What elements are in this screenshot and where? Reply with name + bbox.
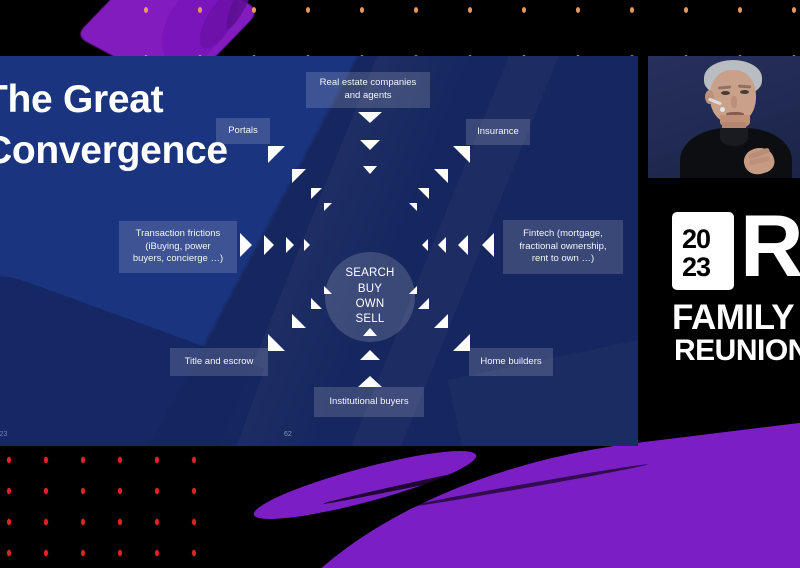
- speaker-eye-left: [721, 91, 730, 95]
- arrow-up-left-icon: [409, 286, 417, 294]
- node-transaction-frictions: Transaction frictions (iBuying, power bu…: [119, 221, 237, 273]
- screenshot-stage: The Great Convergence SEARCH BUY OWN SEL…: [0, 0, 800, 568]
- arrow-right-icon: [304, 239, 310, 251]
- arrow-up-right-icon: [292, 314, 306, 328]
- arrow-up-left-icon: [453, 334, 470, 351]
- arrow-left-icon: [458, 235, 468, 255]
- slide-footer-note: h 2023: [0, 431, 7, 438]
- arrow-up-left-icon: [418, 298, 429, 309]
- purple-brush-stroke-top-tertiary: [192, 0, 246, 54]
- arrow-up-right-icon: [268, 334, 285, 351]
- purple-brush-stroke-top-thin: [221, 0, 264, 32]
- hub-line-buy: BUY: [358, 282, 382, 297]
- logo-year-badge: 20 23: [672, 212, 734, 290]
- logo-text-reunion: REUNION: [674, 336, 800, 366]
- node-portals: Portals: [216, 118, 270, 144]
- arrow-down-icon: [363, 166, 377, 174]
- arrow-up-icon: [360, 350, 380, 360]
- arrow-down-left-icon: [434, 169, 448, 183]
- hub-line-search: SEARCH: [345, 266, 394, 281]
- logo-year-bottom: 23: [682, 254, 710, 281]
- arrow-down-right-icon: [292, 169, 306, 183]
- arrow-up-icon: [363, 328, 377, 336]
- node-title-and-escrow: Title and escrow: [170, 348, 268, 376]
- arrow-down-left-icon: [409, 203, 417, 211]
- purple-brush-streak-line-secondary: [402, 462, 649, 509]
- hub-line-own: OWN: [356, 297, 385, 312]
- purple-brush-stroke-bottom-tail: [250, 439, 481, 531]
- arrow-left-icon: [482, 233, 494, 257]
- arrow-right-icon: [240, 233, 252, 257]
- arrow-down-icon: [360, 140, 380, 150]
- speaker-eye-right: [740, 90, 749, 94]
- arrow-up-icon: [358, 376, 382, 387]
- event-logo: 20 23 R FAMILY REUNION: [672, 212, 800, 380]
- arrow-up-right-icon: [324, 286, 332, 294]
- arrow-down-icon: [358, 112, 382, 123]
- arrow-up-right-icon: [311, 298, 322, 309]
- hub-line-sell: SELL: [356, 312, 385, 327]
- slide-page-number: 62: [284, 431, 292, 438]
- arrow-up-left-icon: [434, 314, 448, 328]
- node-institutional-buyers: Institutional buyers: [314, 387, 424, 417]
- arrow-right-icon: [286, 237, 294, 253]
- speaker-nose: [731, 96, 737, 108]
- speaker-collar: [720, 128, 748, 146]
- logo-monogram-r: R: [740, 212, 800, 290]
- speaker-video-panel: [648, 56, 800, 178]
- arrow-left-icon: [438, 237, 446, 253]
- purple-brush-streak-line: [323, 439, 617, 506]
- logo-year-top: 20: [682, 226, 710, 253]
- logo-text-family: FAMILY: [672, 300, 794, 335]
- arrow-down-right-icon: [324, 203, 332, 211]
- node-home-builders: Home builders: [469, 348, 553, 376]
- node-real-estate-companies: Real estate companies and agents: [306, 72, 430, 108]
- arrow-down-right-icon: [268, 146, 285, 163]
- presentation-slide: The Great Convergence SEARCH BUY OWN SEL…: [0, 56, 638, 446]
- arrow-right-icon: [264, 235, 274, 255]
- speaker-headset-mic-tip: [720, 107, 725, 112]
- node-fintech: Fintech (mortgage, fractional ownership,…: [503, 220, 623, 274]
- arrow-down-left-icon: [453, 146, 470, 163]
- arrow-down-right-icon: [311, 188, 322, 199]
- arrow-left-icon: [422, 239, 428, 251]
- arrow-down-left-icon: [418, 188, 429, 199]
- red-dot-pattern-bottom: [0, 448, 210, 568]
- orange-dot-pattern-top: [140, 0, 800, 58]
- node-insurance: Insurance: [466, 119, 530, 145]
